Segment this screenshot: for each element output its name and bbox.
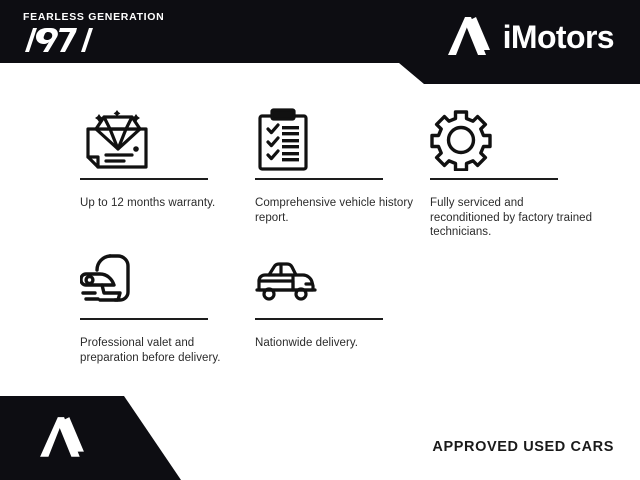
feature-item-warranty: Up to 12 months warranty. <box>80 104 245 211</box>
feature-divider <box>255 318 383 320</box>
gear-cog-icon <box>430 104 595 176</box>
car-transporter-icon <box>255 244 420 316</box>
fearless-generation-block: FEARLESS GENERATION <box>23 11 223 54</box>
brand-lockup: iMotors <box>446 14 614 60</box>
feature-caption: Fully serviced and reconditioned by fact… <box>430 196 595 240</box>
feature-item-servicing: Fully serviced and reconditioned by fact… <box>430 104 595 240</box>
year-1971-logo <box>23 26 93 54</box>
feature-divider <box>255 178 383 180</box>
vacuum-cleaner-icon <box>80 244 245 316</box>
clipboard-checklist-icon <box>255 104 420 176</box>
footer-logo <box>38 414 86 462</box>
imotors-chevron-logo-icon <box>38 414 86 462</box>
header-bar: FEARLESS GENERATION <box>0 0 640 84</box>
footer-shape <box>0 396 190 480</box>
brand-name-text: iMotors <box>503 20 614 54</box>
promo-banner: FEARLESS GENERATION <box>0 0 640 480</box>
warranty-gem-card-icon <box>80 104 245 176</box>
feature-divider <box>430 178 558 180</box>
feature-caption: Nationwide delivery. <box>255 336 420 351</box>
feature-item-delivery: Nationwide delivery. <box>255 244 420 351</box>
feature-divider <box>80 318 208 320</box>
feature-divider <box>80 178 208 180</box>
tagline-text: FEARLESS GENERATION <box>23 11 223 23</box>
feature-item-history-report: Comprehensive vehicle history report. <box>255 104 420 225</box>
imotors-chevron-logo-icon <box>446 14 492 60</box>
feature-caption: Comprehensive vehicle history report. <box>255 196 420 225</box>
approved-used-cars-text: APPROVED USED CARS <box>432 439 614 455</box>
feature-item-valet: Professional valet and preparation befor… <box>80 244 245 365</box>
feature-caption: Up to 12 months warranty. <box>80 196 245 211</box>
feature-caption: Professional valet and preparation befor… <box>80 336 245 365</box>
